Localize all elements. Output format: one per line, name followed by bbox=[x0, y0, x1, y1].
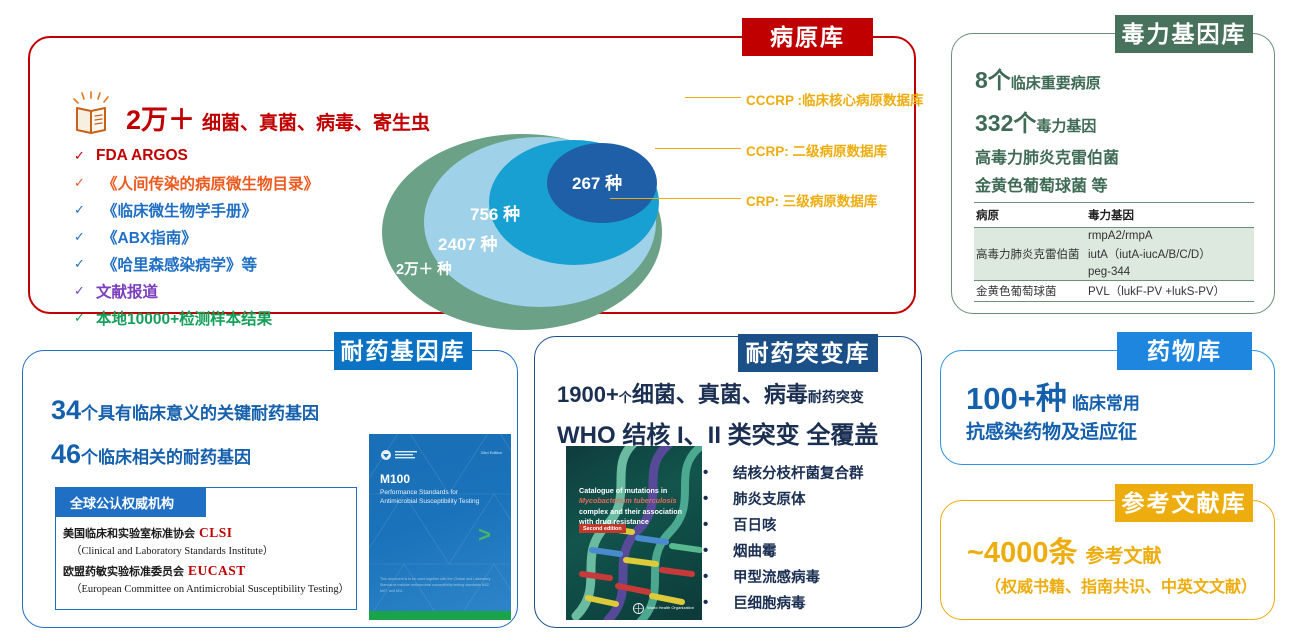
resgene-line-1: 34个具有临床意义的关键耐药基因 bbox=[51, 395, 319, 426]
virulence-gene-table: 病原 毒力基因 rmpA2/rmpA 高毒力肺炎克雷伯菌 iutA（iutA-i… bbox=[974, 202, 1254, 302]
virulence-line-2: 332个毒力基因 bbox=[975, 104, 1096, 138]
virulence-line-1: 8个临床重要病原 bbox=[975, 61, 1101, 95]
venn-label-mid: 2407 种 bbox=[438, 230, 498, 255]
table-row: 金黄色葡萄球菌 PVL（lukF-PV +lukS-PV） bbox=[974, 281, 1254, 302]
bullet-icon: • bbox=[703, 490, 733, 507]
m100-book-cover: 33rd Edition M100 Performance Standards … bbox=[369, 434, 511, 620]
venn-label-inner: 756 种 bbox=[470, 200, 520, 225]
table-row: rmpA2/rmpA bbox=[974, 228, 1254, 245]
clsi-logo-icon bbox=[380, 449, 434, 461]
venn-label-core: 267 种 bbox=[572, 169, 622, 194]
reference-line-2: （权威书籍、指南共识、中英文文献） bbox=[985, 573, 1257, 597]
drug-line-2: 抗感染药物及适应征 bbox=[966, 417, 1137, 444]
bullet-icon: • bbox=[703, 542, 733, 559]
m100-bottom-bar bbox=[369, 611, 511, 620]
resgene-line-2: 46个临床相关的耐药基因 bbox=[51, 439, 251, 470]
chevron-right-icon: > bbox=[478, 522, 491, 548]
badge-resistance-mutation-library: 耐药突变库 bbox=[738, 334, 878, 372]
leader-line-ccrp bbox=[655, 148, 741, 149]
bullet-icon: • bbox=[703, 594, 733, 611]
resmut-line-1: 1900+个细菌、真菌、病毒耐药突变 bbox=[557, 377, 864, 409]
authority-box-header: 全球公认权威机构 bbox=[56, 488, 206, 517]
list-item: • 百日咳 bbox=[703, 511, 864, 537]
pathogen-source-list: ✓ FDA ARGOS ✓ 《人间传染的病原微生物目录》 ✓ 《临床微生物学手册… bbox=[74, 142, 374, 331]
check-icon: ✓ bbox=[74, 310, 96, 326]
list-item: • 甲型流感病毒 bbox=[703, 563, 864, 589]
who-logo-icon: World Health Organization bbox=[633, 603, 694, 614]
list-item: • 烟曲霉 bbox=[703, 537, 864, 563]
pathogen-headline-number: 2万＋ bbox=[126, 98, 195, 137]
pathogen-library-panel: 2万＋ 细菌、真菌、病毒、寄生虫 ✓ FDA ARGOS ✓ 《人间传染的病原微… bbox=[28, 36, 916, 314]
resmut-line-2: WHO 结核 I、II 类突变 全覆盖 bbox=[557, 415, 878, 450]
check-icon: ✓ bbox=[74, 175, 96, 191]
bullet-icon: • bbox=[703, 464, 733, 481]
list-item: ✓ 《ABX指南》 bbox=[74, 223, 374, 250]
who-cover-edition: Second edition bbox=[579, 524, 626, 533]
authority-entry-eucast-en: （European Committee on Antimicrobial Sus… bbox=[71, 581, 349, 596]
open-book-icon bbox=[72, 90, 120, 138]
who-cover-title: Catalogue of mutations in Mycobacterium … bbox=[579, 486, 687, 528]
badge-reference-library: 参考文献库 bbox=[1115, 484, 1253, 522]
who-catalogue-cover: Catalogue of mutations in Mycobacterium … bbox=[566, 446, 702, 620]
badge-drug-library: 药物库 bbox=[1117, 332, 1252, 370]
virulence-gene-library-panel: 8个临床重要病原 332个毒力基因 高毒力肺炎克雷伯菌 金黄色葡萄球菌 等 病原… bbox=[951, 33, 1275, 314]
col-header-gene: 毒力基因 bbox=[1086, 203, 1254, 228]
legend-crp: CRP: 三级病原数据库 bbox=[746, 190, 877, 210]
pathogen-venn-diagram: 2万＋ 种 2407 种 756 种 267 种 bbox=[382, 130, 712, 335]
list-item: ✓ 《人间传染的病原微生物目录》 bbox=[74, 169, 374, 196]
list-item: • 结核分枝杆菌复合群 bbox=[703, 459, 864, 485]
list-item: • 巨细胞病毒 bbox=[703, 589, 864, 615]
reference-line-1: ~4000条参考文献 bbox=[967, 529, 1161, 571]
infographic-canvas: 2万＋ 细菌、真菌、病毒、寄生虫 ✓ FDA ARGOS ✓ 《人间传染的病原微… bbox=[0, 0, 1293, 641]
badge-virulence-gene-library: 毒力基因库 bbox=[1115, 15, 1253, 53]
table-header-row: 病原 毒力基因 bbox=[974, 203, 1254, 228]
leader-line-cccrp bbox=[685, 97, 741, 98]
check-icon: ✓ bbox=[74, 229, 96, 245]
col-header-pathogen: 病原 bbox=[974, 203, 1086, 228]
bullet-icon: • bbox=[703, 516, 733, 533]
badge-pathogen-library: 病原库 bbox=[742, 18, 873, 56]
authority-entry-clsi: 美国临床和实验室标准协会CLSI bbox=[63, 525, 349, 541]
venn-label-outer: 2万＋ 种 bbox=[396, 258, 452, 279]
check-icon: ✓ bbox=[74, 283, 96, 299]
list-item: ✓ 文献报道 bbox=[74, 277, 374, 304]
check-icon: ✓ bbox=[74, 202, 96, 218]
bullet-icon: • bbox=[703, 568, 733, 585]
check-icon: ✓ bbox=[74, 148, 96, 164]
virulence-line-4: 金黄色葡萄球菌 等 bbox=[975, 172, 1107, 196]
legend-cccrp: CCCRP :临床核心病原数据库 bbox=[746, 89, 924, 109]
dna-helix-icon bbox=[566, 446, 702, 620]
m100-edition: 33rd Edition bbox=[481, 450, 502, 455]
authority-entry-clsi-en: （Clinical and Laboratory Standards Insti… bbox=[71, 543, 349, 558]
m100-code: M100 bbox=[380, 472, 410, 486]
authority-box: 全球公认权威机构 美国临床和实验室标准协会CLSI （Clinical and … bbox=[55, 487, 357, 610]
legend-ccrp: CCRP: 二级病原数据库 bbox=[746, 140, 887, 160]
list-item: ✓ 本地10000+检测样本结果 bbox=[74, 304, 374, 331]
mutation-coverage-list: • 结核分枝杆菌复合群 • 肺炎支原体 • 百日咳 • 烟曲霉 • 甲型流感病毒… bbox=[703, 459, 864, 615]
leader-line-crp bbox=[610, 198, 741, 199]
check-icon: ✓ bbox=[74, 256, 96, 272]
authority-entry-eucast: 欧盟药敏实验标准委员会EUCAST bbox=[63, 563, 349, 579]
drug-line-1: 100+种临床常用 bbox=[966, 373, 1140, 418]
list-item: ✓ FDA ARGOS bbox=[74, 142, 374, 169]
table-row: peg-344 bbox=[974, 264, 1254, 281]
badge-resistance-gene-library: 耐药基因库 bbox=[334, 332, 472, 370]
list-item: ✓ 《哈里森感染病学》等 bbox=[74, 250, 374, 277]
m100-subtitle: Performance Standards for Antimicrobial … bbox=[380, 488, 496, 507]
list-item: • 肺炎支原体 bbox=[703, 485, 864, 511]
virulence-line-3: 高毒力肺炎克雷伯菌 bbox=[975, 144, 1119, 168]
m100-footer-text: This document is to be used together wit… bbox=[380, 576, 498, 594]
authority-box-body: 美国临床和实验室标准协会CLSI （Clinical and Laborator… bbox=[56, 517, 356, 609]
table-row: 高毒力肺炎克雷伯菌 iutA（iutA-iucA/B/C/D） bbox=[974, 244, 1254, 264]
list-item: ✓ 《临床微生物学手册》 bbox=[74, 196, 374, 223]
